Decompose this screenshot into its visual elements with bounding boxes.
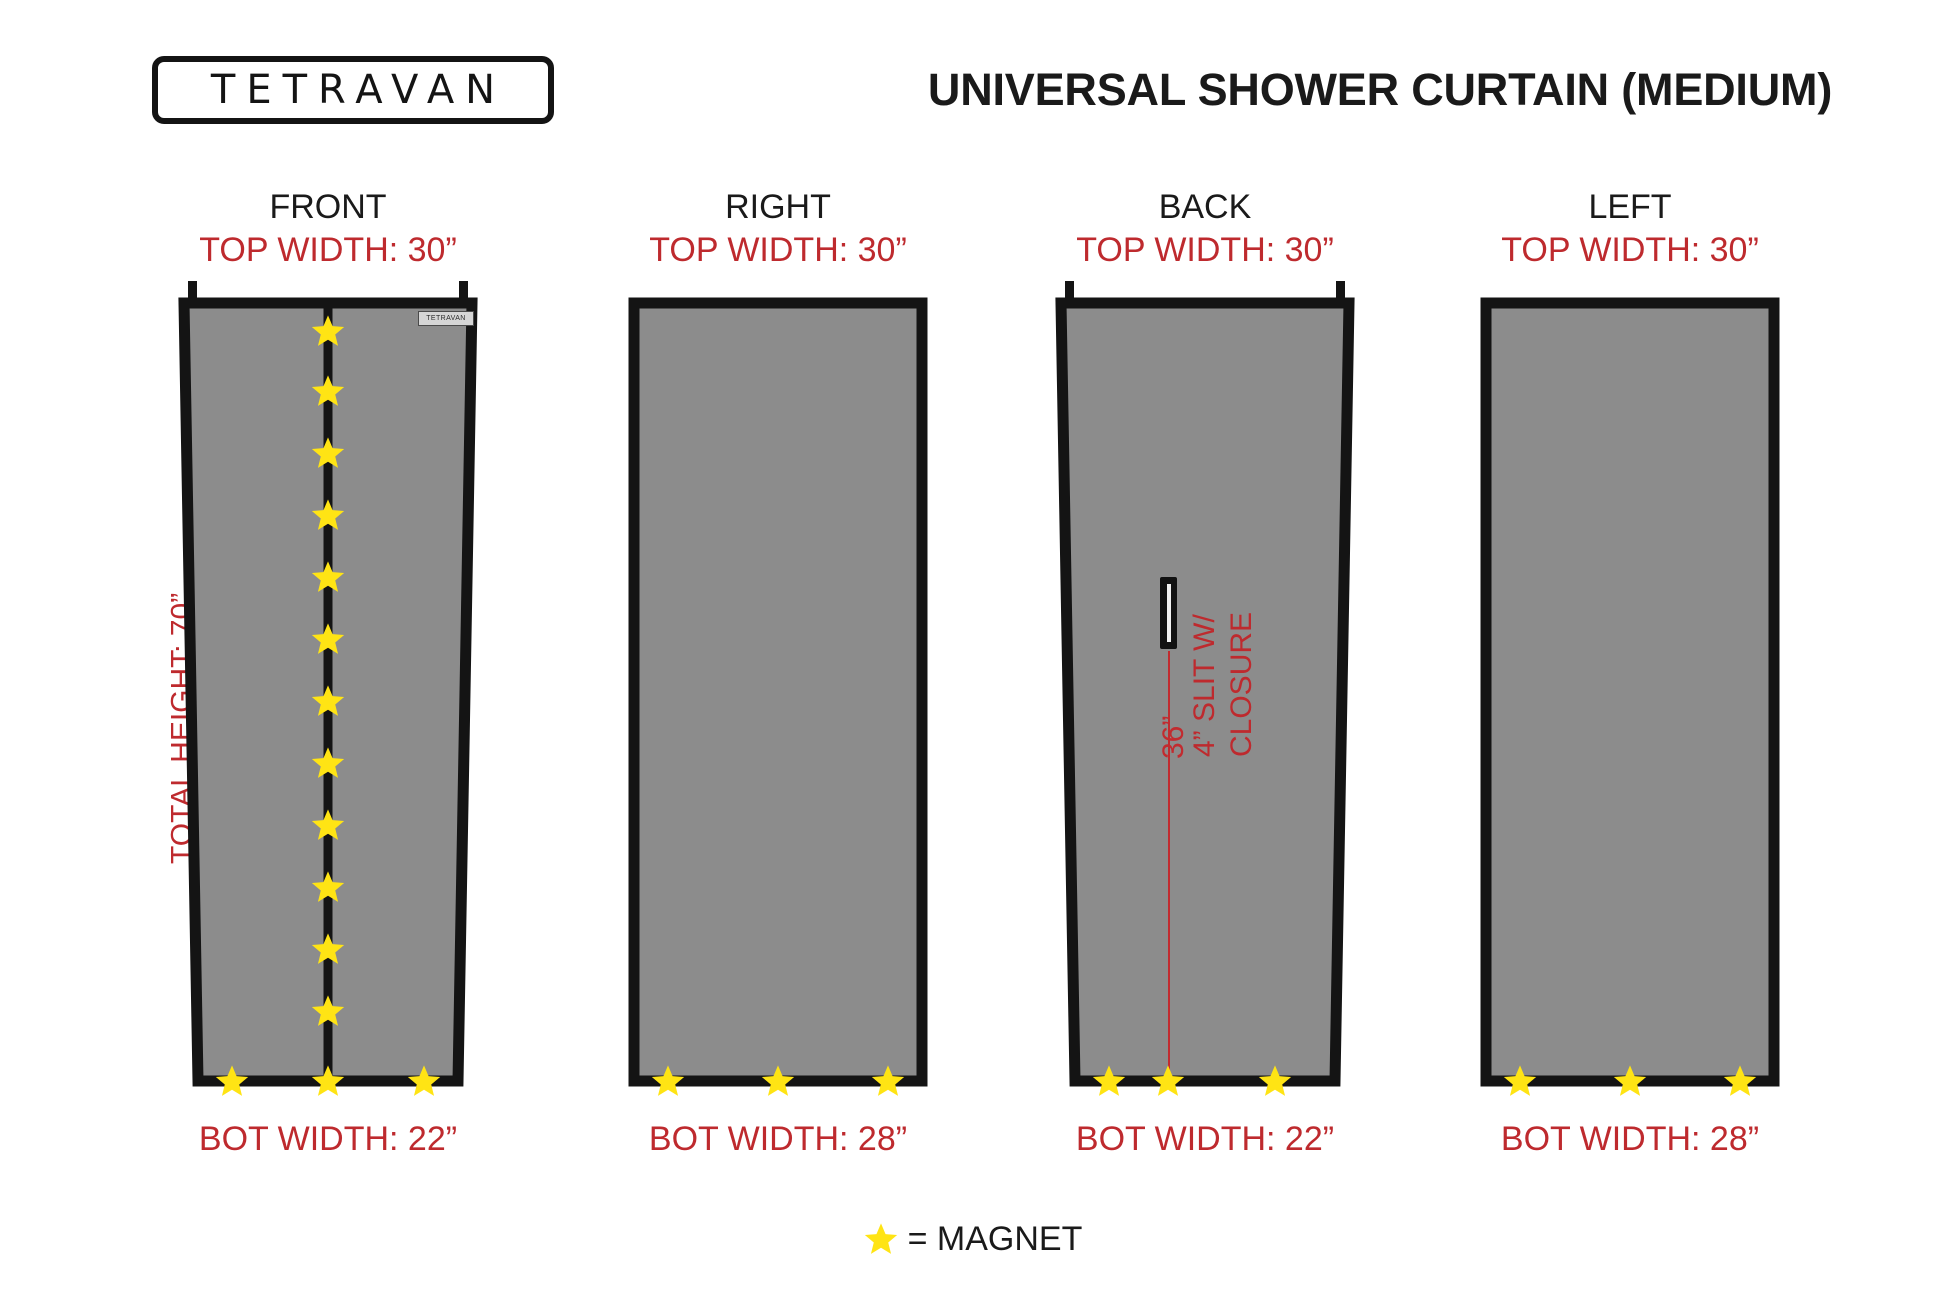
panel-back-bot-width: BOT WIDTH: 22” — [1005, 1121, 1405, 1158]
panel-right-bot-width: BOT WIDTH: 28” — [578, 1121, 978, 1158]
panel-back: BACK TOP WIDTH: 30” 4” SLIT W/ CLOSURE 3… — [1005, 190, 1405, 1158]
panel-right-drawing — [578, 281, 978, 1111]
panel-left-svg — [1430, 281, 1830, 1111]
panel-left-body — [1486, 303, 1774, 1081]
panel-left-bot-width: BOT WIDTH: 28” — [1430, 1121, 1830, 1158]
fabric-care-tag: TETRAVAN — [418, 311, 474, 326]
panel-right-svg — [578, 281, 978, 1111]
slit-label-line2: CLOSURE — [1225, 612, 1258, 757]
panel-back-view-label: BACK — [1005, 190, 1405, 226]
panel-back-drawing: 4” SLIT W/ CLOSURE 36” — [1005, 281, 1405, 1111]
panel-left: LEFT TOP WIDTH: 30” BOT WIDTH: 28” — [1430, 190, 1830, 1158]
panel-front-svg — [128, 281, 528, 1111]
panel-right-body — [634, 303, 922, 1081]
legend-label: = MAGNET — [908, 1222, 1083, 1256]
brand-wordmark: TETRAVAN — [200, 70, 506, 110]
legend: = MAGNET — [0, 1222, 1946, 1256]
tetravan-logo: TETRAVAN — [152, 56, 554, 124]
spec-sheet-canvas: TETRAVAN UNIVERSAL SHOWER CURTAIN (MEDIU… — [0, 0, 1946, 1297]
panel-right-top-width: TOP WIDTH: 30” — [578, 232, 978, 269]
panel-back-top-width: TOP WIDTH: 30” — [1005, 232, 1405, 269]
panel-front-view-label: FRONT — [128, 190, 528, 226]
slit-label: 4” SLIT W/ CLOSURE — [1187, 612, 1260, 757]
page-title: UNIVERSAL SHOWER CURTAIN (MEDIUM) — [900, 64, 1860, 116]
panel-right: RIGHT TOP WIDTH: 30” BOT WIDTH: 28” — [578, 190, 978, 1158]
panel-left-drawing — [1430, 281, 1830, 1111]
panel-right-view-label: RIGHT — [578, 190, 978, 226]
panel-left-view-label: LEFT — [1430, 190, 1830, 226]
panel-front-bot-width: BOT WIDTH: 22” — [128, 1121, 528, 1158]
slit-dimension-value: 36” — [1157, 716, 1191, 759]
panel-front: FRONT TOP WIDTH: 30” TETRAVAN — [128, 190, 528, 1158]
slit-label-line1: 4” SLIT W/ — [1188, 614, 1221, 757]
magnet-star-icon — [864, 1222, 898, 1256]
panel-front-drawing: TETRAVAN — [128, 281, 528, 1111]
slit-opening — [1160, 577, 1177, 649]
panel-left-top-width: TOP WIDTH: 30” — [1430, 232, 1830, 269]
panel-front-top-width: TOP WIDTH: 30” — [128, 232, 528, 269]
